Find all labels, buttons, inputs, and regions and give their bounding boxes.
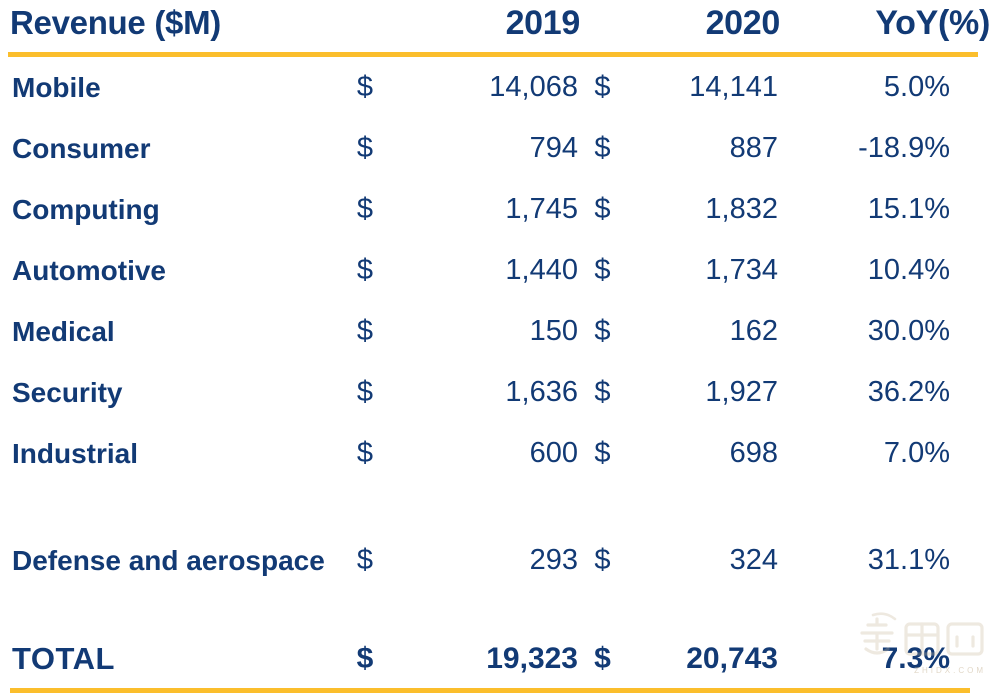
row-currency-2019: $ — [345, 362, 385, 423]
table-row: Medical$150$16230.0% — [0, 301, 1000, 362]
table-spacer-row — [0, 584, 1000, 630]
row-label: Consumer — [0, 118, 345, 179]
row-value-2020: 1,734 — [625, 240, 780, 301]
header-revenue-label: Revenue ($M) — [0, 0, 345, 46]
row-currency-2020: $ — [580, 423, 625, 484]
row-currency-2019: $ — [345, 423, 385, 484]
row-label: Security — [0, 362, 345, 423]
row-value-2019: 150 — [385, 301, 580, 362]
row-currency-2020: $ — [580, 484, 625, 584]
header-2019-currency — [345, 0, 385, 46]
row-value-yoy: 5.0% — [780, 57, 1000, 118]
total-value-2019: 19,323 — [385, 630, 580, 688]
row-currency-2019: $ — [345, 484, 385, 584]
row-value-2019: 794 — [385, 118, 580, 179]
row-value-2020: 698 — [625, 423, 780, 484]
row-value-yoy: 30.0% — [780, 301, 1000, 362]
table-row: Automotive$1,440$1,73410.4% — [0, 240, 1000, 301]
row-value-2020: 1,927 — [625, 362, 780, 423]
revenue-table-page: Revenue ($M) 2019 2020 YoY(%) Mobile$14,… — [0, 0, 1000, 685]
row-value-2019: 14,068 — [385, 57, 580, 118]
row-currency-2019: $ — [345, 57, 385, 118]
row-value-yoy: 10.4% — [780, 240, 1000, 301]
row-value-2020: 324 — [625, 484, 780, 584]
header-yoy: YoY(%) — [780, 0, 1000, 46]
row-value-2020: 162 — [625, 301, 780, 362]
table-row: Security$1,636$1,92736.2% — [0, 362, 1000, 423]
row-value-2020: 1,832 — [625, 179, 780, 240]
row-label: Automotive — [0, 240, 345, 301]
row-currency-2020: $ — [580, 240, 625, 301]
row-currency-2019: $ — [345, 240, 385, 301]
table-row: Industrial$600$6987.0% — [0, 423, 1000, 484]
row-value-2020: 14,141 — [625, 57, 780, 118]
header-2020: 2020 — [625, 0, 780, 46]
header-2020-currency — [580, 0, 625, 46]
row-currency-2020: $ — [580, 301, 625, 362]
total-divider-rule — [10, 688, 970, 693]
row-label: Mobile — [0, 57, 345, 118]
row-currency-2020: $ — [580, 362, 625, 423]
row-value-2019: 1,745 — [385, 179, 580, 240]
row-currency-2020: $ — [580, 57, 625, 118]
spacer-cell — [0, 584, 1000, 630]
row-value-2020: 887 — [625, 118, 780, 179]
total-label: TOTAL — [0, 630, 345, 688]
row-currency-2019: $ — [345, 179, 385, 240]
row-value-2019: 600 — [385, 423, 580, 484]
table-row: Defense and aerospace$293$32431.1% — [0, 484, 1000, 584]
row-value-yoy: 31.1% — [780, 484, 1000, 584]
header-2019: 2019 — [385, 0, 580, 46]
row-currency-2019: $ — [345, 301, 385, 362]
row-value-yoy: -18.9% — [780, 118, 1000, 179]
row-label: Industrial — [0, 423, 345, 484]
row-label: Medical — [0, 301, 345, 362]
table-row: Consumer$794$887-18.9% — [0, 118, 1000, 179]
row-currency-2020: $ — [580, 118, 625, 179]
row-value-yoy: 15.1% — [780, 179, 1000, 240]
row-value-2019: 293 — [385, 484, 580, 584]
table-header-row: Revenue ($M) 2019 2020 YoY(%) — [0, 0, 1000, 46]
total-value-2020: 20,743 — [625, 630, 780, 688]
row-currency-2019: $ — [345, 118, 385, 179]
revenue-table-body: Mobile$14,068$14,1415.0%Consumer$794$887… — [0, 57, 1000, 688]
row-currency-2020: $ — [580, 179, 625, 240]
total-currency-2019: $ — [345, 630, 385, 688]
row-label: Defense and aerospace — [0, 484, 345, 584]
row-label: Computing — [0, 179, 345, 240]
row-value-yoy: 36.2% — [780, 362, 1000, 423]
row-value-yoy: 7.0% — [780, 423, 1000, 484]
total-value-yoy: 7.3% — [780, 630, 1000, 688]
revenue-table: Revenue ($M) 2019 2020 YoY(%) — [0, 0, 1000, 46]
total-currency-2020: $ — [580, 630, 625, 688]
table-total-row: TOTAL$19,323$20,7437.3% — [0, 630, 1000, 688]
row-value-2019: 1,636 — [385, 362, 580, 423]
row-value-2019: 1,440 — [385, 240, 580, 301]
table-row: Computing$1,745$1,83215.1% — [0, 179, 1000, 240]
table-row: Mobile$14,068$14,1415.0% — [0, 57, 1000, 118]
